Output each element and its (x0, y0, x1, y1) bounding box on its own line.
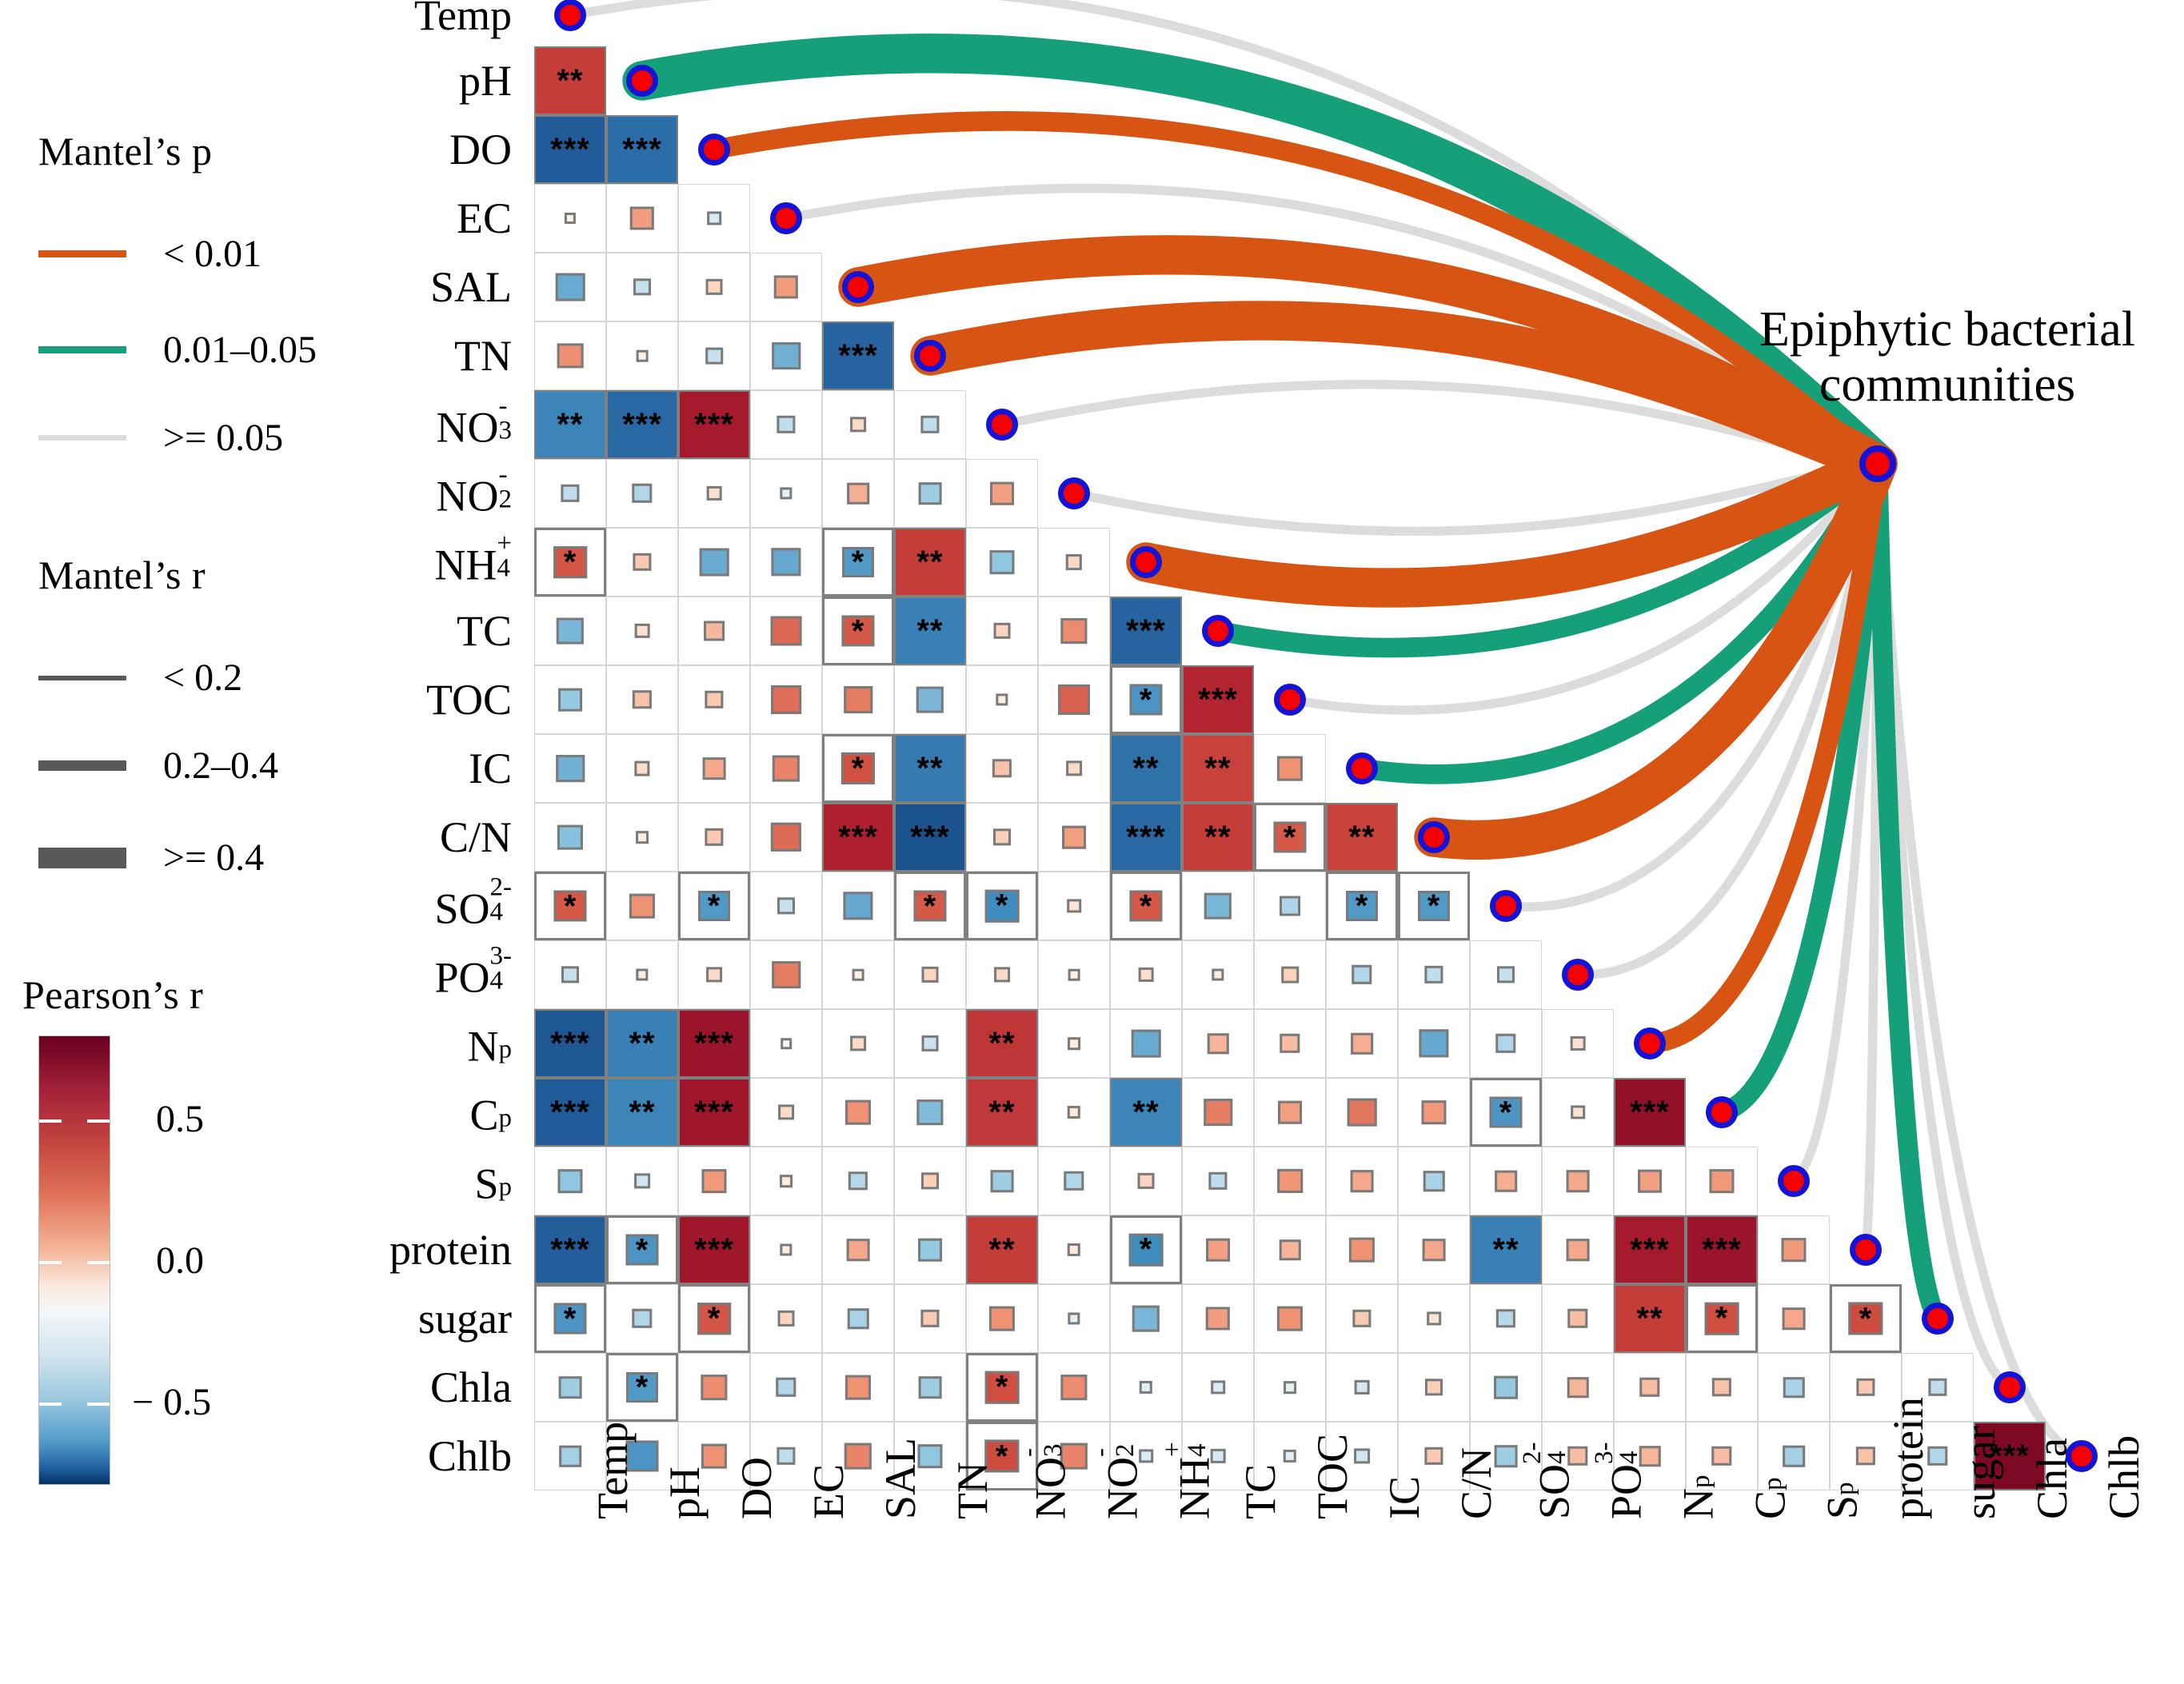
matrix-cell (606, 253, 678, 321)
correlation-square (1567, 1377, 1589, 1398)
correlation-square (1352, 1310, 1371, 1327)
variable-node-sugar[interactable] (1922, 1303, 1954, 1335)
matrix-cell (822, 1078, 894, 1147)
correlation-square (1068, 1106, 1080, 1119)
significance-stars: * (1427, 890, 1441, 922)
correlation-square (1062, 826, 1086, 849)
correlation-square (918, 1239, 942, 1262)
mantel-edge-cp (1722, 464, 1878, 1112)
correlation-square: ** (1184, 736, 1252, 801)
correlation-square (848, 1171, 868, 1190)
correlation-square: *** (536, 1011, 605, 1076)
matrix-cell (966, 528, 1038, 597)
correlation-square: *** (680, 392, 749, 457)
correlation-square (1284, 1450, 1296, 1463)
pearson-r-colorbar (38, 1036, 110, 1485)
matrix-cell: * (606, 1353, 678, 1422)
matrix-cell (1038, 528, 1110, 597)
variable-node-ic[interactable] (1346, 752, 1378, 784)
matrix-cell (534, 597, 606, 665)
matrix-cell: ** (606, 1078, 678, 1147)
matrix-cell (750, 597, 822, 665)
mantel-edge-tc (1218, 464, 1878, 648)
correlation-square (1068, 1312, 1080, 1324)
variable-node-chla[interactable] (1994, 1371, 2026, 1403)
matrix-cell (1326, 940, 1398, 1009)
correlation-square (781, 1038, 792, 1049)
correlation-square (1421, 1100, 1446, 1124)
correlation-square (992, 759, 1012, 777)
row-label-sal: SAL (120, 262, 512, 312)
correlation-square: ** (1112, 736, 1180, 801)
matrix-cell: ** (1326, 803, 1398, 872)
row-label-so4: SO2-4 (120, 878, 512, 933)
matrix-cell (894, 1284, 966, 1353)
hub-node[interactable] (1859, 445, 1896, 482)
colorbar-tick-05-r (87, 1119, 110, 1123)
significance-stars: * (996, 890, 1009, 922)
correlation-square (1208, 1172, 1227, 1190)
correlation-square: * (842, 547, 874, 577)
significance-stars: ** (988, 1096, 1015, 1128)
row-label-no2: NO-2 (120, 465, 512, 521)
variable-node-nh4[interactable] (1130, 546, 1162, 578)
significance-stars: *** (1126, 615, 1166, 647)
correlation-square (1349, 1238, 1375, 1263)
correlation-square (632, 1309, 652, 1328)
matrix-cell (1542, 1215, 1614, 1284)
significance-stars: *** (1198, 684, 1238, 716)
matrix-cell (1182, 1353, 1254, 1422)
variable-node-po4[interactable] (1562, 959, 1594, 991)
matrix-cell (750, 803, 822, 872)
correlation-square (1419, 1029, 1448, 1057)
significance-stars: *** (622, 134, 662, 166)
correlation-square: * (626, 1372, 658, 1403)
correlation-square: *** (1112, 804, 1180, 870)
correlation-square (778, 1311, 795, 1327)
correlation-square (1278, 1101, 1302, 1124)
row-label-chlb: Chlb (120, 1431, 512, 1481)
mantel-r-swatch-lt02 (38, 676, 126, 680)
correlation-square (919, 482, 942, 505)
matrix-cell (750, 1078, 822, 1147)
matrix-cell (822, 1215, 894, 1284)
matrix-cell (750, 734, 822, 803)
significance-stars: ** (988, 1028, 1015, 1059)
significance-stars: ** (988, 1234, 1015, 1266)
column-label-po4: PO3-4 (1595, 1442, 1651, 1519)
variable-node-chlb[interactable] (2066, 1440, 2098, 1472)
matrix-cell: ** (534, 390, 606, 459)
column-label-toc: TOC (1308, 1434, 1357, 1519)
significance-stars: * (852, 546, 865, 578)
column-label-tc: TC (1236, 1464, 1285, 1519)
correlation-square: * (1129, 684, 1162, 715)
correlation-square (994, 623, 1011, 639)
correlation-square (559, 1376, 582, 1399)
row-label-do: DO (120, 125, 512, 174)
matrix-cell (1254, 1353, 1326, 1422)
correlation-square: ** (1328, 804, 1396, 870)
correlation-square (844, 686, 872, 713)
matrix-cell (1182, 1215, 1254, 1284)
matrix-cell (1038, 1078, 1110, 1147)
correlation-square (1783, 1307, 1806, 1330)
significance-stars: * (1140, 890, 1153, 922)
matrix-cell: *** (606, 390, 678, 459)
column-label-ph: pH (660, 1467, 709, 1519)
matrix-cell (894, 1353, 966, 1422)
correlation-square (916, 687, 944, 713)
significance-stars: *** (550, 1096, 590, 1128)
matrix-cell: ** (1470, 1215, 1542, 1284)
correlation-square (1068, 1037, 1080, 1050)
significance-stars: ** (916, 546, 943, 578)
row-label-tc: TC (120, 606, 512, 656)
mantel-edge-chla (1878, 464, 2010, 1387)
column-label-sugar: sugar (1955, 1426, 2005, 1519)
correlation-square: * (553, 1303, 586, 1334)
correlation-square (920, 416, 939, 433)
matrix-cell (1038, 1147, 1110, 1215)
correlation-square (1139, 968, 1154, 982)
variable-node-toc[interactable] (1274, 684, 1306, 716)
column-label-nh4: NH+4 (1164, 1442, 1219, 1519)
matrix-cell (534, 184, 606, 253)
correlation-square (1423, 1171, 1445, 1191)
correlation-square (1204, 1099, 1232, 1126)
mantel-edge-no2 (1074, 464, 1878, 531)
correlation-square: * (1346, 891, 1378, 921)
matrix-cell: *** (1110, 597, 1182, 665)
significance-stars: *** (550, 1234, 590, 1266)
correlation-square (991, 1170, 1014, 1192)
correlation-square: *** (680, 1217, 749, 1283)
mantel-edge-nh4 (1146, 464, 1878, 588)
variable-node-no2[interactable] (1058, 477, 1090, 509)
correlation-square (1060, 1375, 1087, 1400)
significance-stars: ** (629, 1096, 655, 1128)
matrix-cell: * (1398, 872, 1470, 940)
correlation-square (1571, 1036, 1586, 1051)
matrix-cell (606, 665, 678, 734)
correlation-square (771, 548, 801, 576)
matrix-cell: * (678, 1284, 750, 1353)
column-label-sal: SAL (876, 1438, 925, 1519)
correlation-square (557, 825, 583, 850)
correlation-square: *** (536, 117, 605, 182)
matrix-cell (966, 665, 1038, 734)
matrix-cell (534, 459, 606, 528)
matrix-cell (1038, 597, 1110, 665)
significance-stars: * (564, 890, 577, 922)
column-label-no3: NO-3 (1020, 1444, 1075, 1520)
matrix-cell: *** (822, 803, 894, 872)
correlation-square (993, 828, 1011, 845)
matrix-cell: *** (1614, 1215, 1686, 1284)
matrix-cell (606, 1284, 678, 1353)
correlation-square (557, 618, 584, 644)
variable-node-do[interactable] (698, 134, 730, 166)
mantel-p-swatch-lt001 (38, 250, 126, 257)
correlation-square (919, 1376, 942, 1399)
correlation-square (1132, 1306, 1160, 1332)
significance-stars: *** (838, 821, 878, 853)
variable-node-c-n[interactable] (1418, 821, 1450, 853)
matrix-cell (678, 184, 750, 253)
correlation-square (1567, 1309, 1587, 1328)
correlation-square (780, 487, 792, 499)
correlation-square (776, 1378, 796, 1397)
variable-node-ec[interactable] (770, 202, 802, 234)
matrix-cell (966, 940, 1038, 1009)
matrix-cell (1542, 1284, 1614, 1353)
matrix-cell (966, 597, 1038, 665)
correlation-square (706, 279, 723, 295)
matrix-cell (1470, 1353, 1542, 1422)
matrix-cell (678, 940, 750, 1009)
matrix-cell: *** (534, 115, 606, 184)
correlation-square (989, 550, 1014, 574)
matrix-cell (966, 1284, 1038, 1353)
correlation-square (916, 1099, 943, 1125)
correlation-square (771, 617, 802, 646)
correlation-square (1066, 760, 1082, 776)
colorbar-tick-neg05-r (87, 1403, 110, 1406)
correlation-square (1206, 1239, 1230, 1262)
correlation-square (774, 275, 798, 298)
significance-stars: *** (550, 1028, 590, 1059)
correlation-square (1211, 1380, 1225, 1394)
matrix-cell (534, 803, 606, 872)
column-label-temp: Temp (588, 1422, 637, 1519)
matrix-cell (1110, 1353, 1182, 1422)
correlation-square: *** (1687, 1217, 1756, 1283)
correlation-square: *** (680, 1011, 749, 1076)
matrix-cell (606, 528, 678, 597)
variable-node-cp[interactable] (1706, 1096, 1738, 1128)
correlation-square (1208, 1033, 1229, 1054)
variable-node-sal[interactable] (842, 271, 874, 303)
correlation-square (1060, 618, 1087, 644)
correlation-square (556, 273, 585, 301)
matrix-cell (966, 734, 1038, 803)
matrix-cell (1038, 665, 1110, 734)
matrix-cell (1398, 1284, 1470, 1353)
row-label-toc: TOC (120, 675, 512, 724)
matrix-cell (822, 1009, 894, 1078)
matrix-cell: * (1110, 872, 1182, 940)
variable-node-protein[interactable] (1850, 1234, 1882, 1266)
variable-node-so4[interactable] (1490, 890, 1522, 922)
matrix-cell (750, 253, 822, 321)
significance-stars: * (996, 1440, 1009, 1472)
matrix-cell (750, 459, 822, 528)
correlation-square (1928, 1379, 1946, 1396)
variable-node-sp[interactable] (1778, 1165, 1810, 1197)
correlation-square (701, 1444, 727, 1469)
row-label-np: N p (120, 1016, 512, 1071)
variable-node-np[interactable] (1634, 1028, 1666, 1059)
column-label-cp: C p (1739, 1477, 1795, 1519)
correlation-square (1277, 1169, 1303, 1193)
correlation-square: * (1489, 1096, 1522, 1127)
correlation-square (557, 1169, 582, 1193)
variable-node-tn[interactable] (914, 340, 946, 372)
significance-stars: ** (1132, 752, 1159, 784)
correlation-square: *** (536, 1079, 605, 1145)
correlation-square: * (1129, 890, 1162, 921)
row-label-nh4: NH+4 (120, 534, 512, 589)
correlation-square (1068, 969, 1080, 981)
matrix-cell: *** (822, 321, 894, 390)
matrix-cell (1182, 940, 1254, 1009)
matrix-cell (1758, 1284, 1830, 1353)
matrix-cell (822, 1147, 894, 1215)
matrix-cell (606, 1147, 678, 1215)
matrix-cell (966, 459, 1038, 528)
correlation-square (633, 553, 651, 571)
column-label-ec: EC (804, 1464, 853, 1519)
matrix-cell: * (1254, 803, 1326, 872)
matrix-cell: *** (606, 115, 678, 184)
matrix-cell: *** (534, 1009, 606, 1078)
matrix-cell (894, 390, 966, 459)
matrix-cell (1110, 1284, 1182, 1353)
matrix-cell (1038, 872, 1110, 940)
matrix-cell (534, 1353, 606, 1422)
matrix-cell (678, 1353, 750, 1422)
correlation-square: * (841, 752, 875, 784)
variable-node-temp[interactable] (554, 0, 586, 31)
matrix-cell: *** (1614, 1078, 1686, 1147)
hub-label: Epiphytic bacterial communities (1711, 302, 2183, 413)
significance-stars: *** (838, 340, 878, 372)
variable-node-tc[interactable] (1202, 615, 1234, 647)
correlation-square (1781, 1238, 1806, 1262)
correlation-square (1280, 1239, 1301, 1260)
mantel-edge-so4 (1506, 464, 1878, 907)
matrix-cell (1542, 1147, 1614, 1215)
row-label-cp: C p (120, 1084, 512, 1139)
correlation-square (1495, 1034, 1515, 1053)
matrix-cell (606, 872, 678, 940)
correlation-square: * (841, 615, 874, 646)
matrix-cell (1614, 1353, 1686, 1422)
figure-canvas: Mantel’s p < 0.01 0.01–0.05 >= 0.05 Mant… (0, 0, 2184, 1684)
matrix-cell: * (1110, 1215, 1182, 1284)
matrix-cell (534, 321, 606, 390)
matrix-cell (606, 459, 678, 528)
correlation-square (989, 1307, 1015, 1331)
correlation-square: * (985, 890, 1020, 923)
correlation-square (843, 892, 872, 920)
matrix-cell (534, 665, 606, 734)
matrix-cell (1110, 940, 1182, 1009)
matrix-cell (1326, 1353, 1398, 1422)
mantel-edge-sp (1794, 464, 1878, 1181)
row-label-ec: EC (120, 194, 512, 243)
correlation-square (1058, 684, 1090, 715)
correlation-square (561, 485, 579, 502)
matrix-cell (606, 184, 678, 253)
matrix-cell: * (534, 872, 606, 940)
correlation-square (707, 486, 722, 501)
correlation-square: *** (1112, 598, 1180, 664)
matrix-cell (1254, 940, 1326, 1009)
correlation-square: ** (608, 1079, 677, 1145)
matrix-cell (1542, 1078, 1614, 1147)
colorbar-tick-00 (39, 1261, 62, 1264)
matrix-cell (894, 1215, 966, 1284)
matrix-cell (1254, 1147, 1326, 1215)
correlation-square (1497, 966, 1515, 983)
correlation-square (1132, 1030, 1161, 1058)
matrix-cell: *** (678, 1215, 750, 1284)
matrix-cell (534, 253, 606, 321)
matrix-cell (678, 459, 750, 528)
correlation-square (632, 484, 652, 503)
correlation-square (701, 1375, 727, 1400)
correlation-square: ** (896, 529, 964, 595)
matrix-cell: * (1830, 1284, 1902, 1353)
matrix-cell: ** (1614, 1284, 1686, 1353)
matrix-cell: * (606, 1215, 678, 1284)
matrix-cell (894, 1078, 966, 1147)
correlation-square (1424, 966, 1443, 984)
matrix-cell (750, 1284, 822, 1353)
significance-stars: ** (916, 615, 943, 647)
correlation-square (703, 757, 726, 780)
significance-stars: * (1140, 684, 1153, 716)
row-label-sp: S p (120, 1153, 512, 1208)
correlation-square (1425, 1379, 1443, 1395)
matrix-cell (822, 459, 894, 528)
column-label-np: N p (1667, 1475, 1723, 1520)
correlation-square: * (698, 891, 730, 921)
correlation-square (629, 894, 655, 919)
correlation-square: ** (1615, 1286, 1684, 1351)
correlation-square (772, 961, 801, 988)
significance-stars: *** (694, 1096, 734, 1128)
matrix-cell (750, 940, 822, 1009)
correlation-square (707, 211, 721, 225)
matrix-cell: * (534, 1284, 606, 1353)
matrix-cell (534, 940, 606, 1009)
significance-stars: ** (1636, 1303, 1663, 1335)
variable-node-no3[interactable] (986, 409, 1018, 441)
correlation-square: *** (536, 1217, 605, 1283)
correlation-square (633, 278, 651, 295)
mantel-edge-chlb (1878, 464, 2082, 1456)
variable-node-ph[interactable] (626, 65, 658, 97)
matrix-cell (750, 872, 822, 940)
matrix-cell (894, 459, 966, 528)
matrix-cell: *** (678, 1078, 750, 1147)
matrix-cell (822, 1284, 894, 1353)
correlation-square: * (1129, 1234, 1164, 1267)
matrix-cell (678, 1147, 750, 1215)
matrix-cell (822, 940, 894, 1009)
correlation-square (845, 1100, 871, 1125)
correlation-square (1067, 899, 1081, 912)
matrix-cell (1398, 1078, 1470, 1147)
matrix-cell (1326, 1284, 1398, 1353)
correlation-square (630, 206, 654, 229)
significance-stars: * (924, 890, 937, 922)
significance-stars: *** (550, 134, 590, 166)
